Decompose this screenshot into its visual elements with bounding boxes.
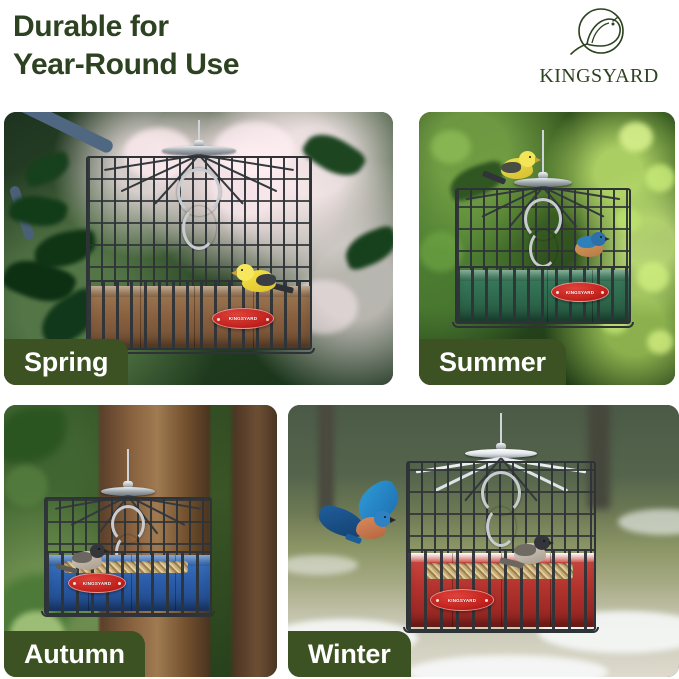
season-label-winter: Winter (308, 639, 391, 670)
product-badge-spring: KINGSYARD (212, 308, 274, 329)
bird-feeder-autumn: KINGSYARD (44, 449, 212, 631)
season-panel-winter: KINGSYARD (288, 405, 679, 677)
bird-bluebird (571, 230, 615, 260)
season-label-summer: Summer (439, 347, 546, 378)
product-badge-winter: KINGSYARD (430, 589, 494, 611)
infographic-page: Durable for Year-Round Use KINGSYARD (0, 0, 679, 679)
season-tab-autumn: Autumn (4, 631, 145, 677)
bird-in-circle-logo-icon (561, 6, 635, 62)
season-label-spring: Spring (24, 347, 108, 378)
bird-dark-eyed-junco (512, 533, 564, 569)
bird-goldfinch (234, 264, 292, 298)
bird-goldfinch (497, 150, 553, 184)
bird-feeder-winter: KINGSYARD (406, 413, 596, 659)
season-tab-summer: Summer (419, 339, 566, 385)
page-title: Durable for Year-Round Use (13, 8, 239, 85)
season-tab-winter: Winter (288, 631, 411, 677)
season-panel-spring: KINGSYARD Spring (4, 112, 393, 385)
product-badge-summer: KINGSYARD (551, 282, 609, 302)
bird-chickadee (70, 543, 118, 575)
bird-feeder-spring: KINGSYARD (86, 120, 312, 370)
season-panel-summer: KINGSYARD (419, 112, 675, 385)
bird-eastern-bluebird-flying (316, 489, 406, 565)
season-label-autumn: Autumn (24, 639, 125, 670)
brand-name: KINGSYARD (533, 65, 665, 88)
season-tab-spring: Spring (4, 339, 128, 385)
header: Durable for Year-Round Use KINGSYARD (0, 0, 679, 108)
product-badge-autumn: KINGSYARD (68, 573, 126, 593)
brand-logo: KINGSYARD (533, 6, 665, 88)
season-panel-autumn: KINGSYARD Autumn (4, 405, 277, 677)
